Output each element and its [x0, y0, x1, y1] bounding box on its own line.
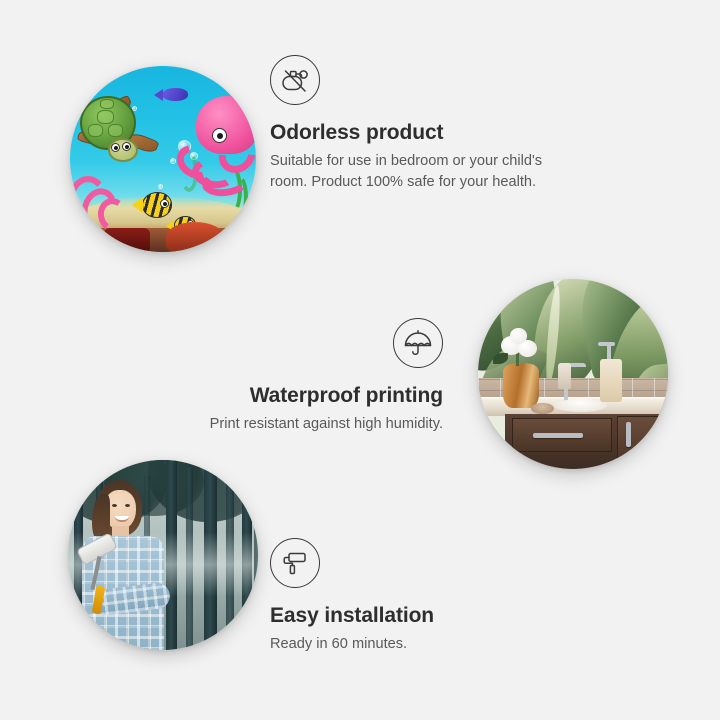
- drawer-pull-icon: [533, 433, 583, 438]
- feature-description: Ready in 60 minutes.: [270, 634, 570, 655]
- feature-odorless: Odorless product Suitable for use in bed…: [270, 55, 600, 193]
- door-pull-icon: [626, 422, 631, 447]
- forest-illustration: [68, 460, 258, 650]
- turtle-scute-icon: [100, 99, 114, 109]
- feature-title: Easy installation: [270, 603, 570, 628]
- sink-basin: [554, 399, 607, 412]
- feature-title: Waterproof printing: [143, 383, 443, 408]
- feature-description-line: room. Product 100% safe for your health.: [270, 172, 600, 193]
- feature-infographic: Odorless product Suitable for use in bed…: [0, 0, 720, 720]
- feature-easy-installation: Easy installation Ready in 60 minutes.: [270, 538, 570, 655]
- woman-eye-icon: [112, 504, 117, 507]
- feature-description-line: Print resistant against high humidity.: [143, 414, 443, 435]
- vase: [503, 363, 539, 409]
- underwater-illustration: [70, 66, 256, 252]
- feature-waterproof: Waterproof printing Print resistant agai…: [143, 318, 443, 435]
- feature-description: Suitable for use in bedroom or your chil…: [270, 151, 600, 192]
- photo-bathroom-scene: [478, 279, 668, 469]
- octopus-head-icon: [196, 96, 256, 154]
- woman-eye-icon: [125, 504, 130, 507]
- vanity-door: [617, 416, 668, 466]
- white-flower-icon: [510, 328, 527, 343]
- bubble-icon: [170, 158, 176, 164]
- feature-description-line: Ready in 60 minutes.: [270, 634, 570, 655]
- fish-pupil-icon: [163, 202, 167, 206]
- paint-roller-icon: [270, 538, 320, 588]
- fish-blue-tail-icon: [154, 89, 163, 101]
- faucet-spout-icon: [598, 342, 615, 346]
- turtle-scute-icon: [108, 124, 123, 137]
- tree-trunk: [254, 484, 258, 650]
- turtle-pupil-icon: [114, 146, 118, 150]
- feature-description: Print resistant against high humidity.: [143, 414, 443, 435]
- hand-towel: [600, 359, 623, 403]
- turtle-scute-icon: [97, 110, 114, 124]
- wood-vanity: [505, 414, 668, 469]
- bubble-icon: [158, 184, 163, 189]
- sunken-object-icon: [104, 228, 150, 252]
- turtle-scute-icon: [88, 124, 103, 137]
- turtle-pupil-icon: [125, 145, 129, 149]
- feature-description-line: Suitable for use in bedroom or your chil…: [270, 151, 600, 172]
- octopus-pupil-icon: [217, 133, 223, 139]
- feature-title: Odorless product: [270, 120, 600, 145]
- fish-yellow-tail-icon: [132, 197, 143, 213]
- no-odor-perfume-icon: [270, 55, 320, 105]
- sea-floor-band: [70, 228, 256, 252]
- photo-underwater-scene: [70, 66, 256, 252]
- photo-forest-scene: [68, 460, 258, 650]
- fish-blue-icon: [162, 88, 188, 101]
- sea-rock-icon: [166, 222, 224, 252]
- soap-bottle: [558, 363, 571, 390]
- bathroom-illustration: [478, 279, 668, 469]
- soap-dish: [531, 403, 554, 414]
- umbrella-icon: [393, 318, 443, 368]
